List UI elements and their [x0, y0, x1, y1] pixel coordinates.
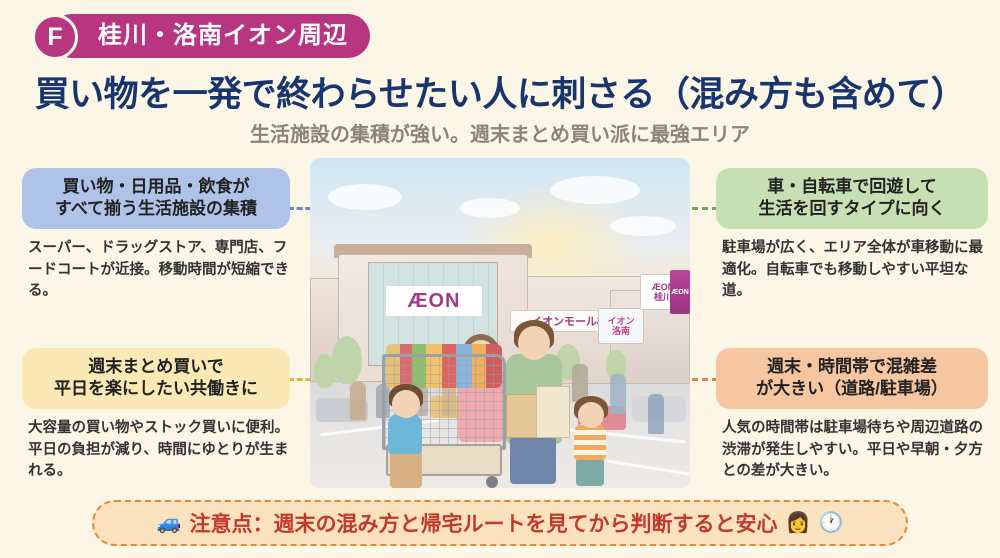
callout-chip-line2: が大きい（道路/駐車場） [730, 378, 974, 400]
background-shopper [610, 374, 626, 414]
callout-shopping-density-body: スーパー、ドラッグストア、専門店、フードコートが近接。移動時間が短縮できる。 [22, 238, 290, 303]
callout-congestion-variance-chip: 週末・時間帯で混雑差 が大きい（道路/駐車場） [716, 348, 988, 409]
background-shopper [648, 394, 664, 434]
aeon-rakunan-sign: イオン 洛南 [598, 308, 644, 344]
callout-chip-line1: 車・自転車で回遊して [730, 176, 974, 198]
callout-chip-line1: 買い物・日用品・飲食が [36, 176, 276, 198]
aeon-rakunan-sign-line2: 洛南 [612, 326, 630, 336]
traffic-jam-icon: 🚙 [157, 513, 182, 533]
shopping-bag-icon [506, 394, 540, 438]
area-badge-label: 桂川・洛南イオン周辺 [98, 14, 348, 58]
callout-chip-line2: 生活を回すタイプに向く [730, 198, 974, 220]
callout-weekend-bulk-buying-body: 大容量の買い物やストック買いに便利。平日の負担が減り、時間にゆとりが生まれる。 [22, 418, 290, 483]
aeon-mall-illustration: ÆON イオンモール桂川 イオン 洛南 ÆON 桂川 ÆON [310, 158, 690, 488]
callout-congestion-variance-body: 人気の時間帯は駐車場待ちや周辺道路の渋滞が発生しやすい。平日や早朝・夕方との差が… [716, 418, 988, 483]
header: 桂川・洛南イオン周辺 F 買い物を一発で終わらせたい人に刺さる（混み方も含めて）… [0, 0, 1000, 160]
callout-shopping-density: 買い物・日用品・飲食が すべて揃う生活施設の集積 スーパー、ドラッグストア、専門… [22, 168, 290, 303]
callout-chip-line2: 平日を楽にしたい共働きに [36, 378, 276, 400]
family-boy-legs [390, 450, 422, 488]
page-subtitle: 生活施設の集積が強い。週末まとめ買い派に最強エリア [0, 118, 1000, 147]
callout-chip-line1: 週末まとめ買いで [36, 356, 276, 378]
tree-icon [332, 336, 362, 384]
area-badge-letter-circle: F [32, 14, 78, 60]
page-title: 買い物を一発で終わらせたい人に刺さる（混み方も含めて） [0, 66, 1000, 117]
family-father-head [518, 326, 550, 360]
shopping-bag-icon [536, 386, 570, 438]
background-shopper [350, 382, 366, 420]
aeon-rakunan-sign-line1: イオン [607, 316, 634, 326]
tree-icon [314, 354, 336, 388]
callout-chip-line1: 週末・時間帯で混雑差 [730, 356, 974, 378]
cloud-icon [328, 184, 402, 210]
area-badge-pill: 桂川・洛南イオン周辺 [50, 14, 370, 58]
family-boy-head [392, 390, 420, 418]
family-girl-body [574, 424, 606, 460]
aeon-logo-sign: ÆON [386, 286, 482, 316]
cloud-icon [460, 198, 520, 218]
callout-chip-line2: すべて揃う生活施設の集積 [36, 198, 276, 220]
caution-banner: 🚙 注意点：週末の混み方と帰宅ルートを見てから判断すると安心 👩 🕐 [92, 500, 908, 546]
cloud-icon [550, 176, 640, 204]
family-girl-head [578, 402, 604, 428]
callout-car-bicycle: 車・自転車で回遊して 生活を回すタイプに向く 駐車場が広く、エリア全体が車移動に… [716, 168, 988, 303]
callout-weekend-bulk-buying-chip: 週末まとめ買いで 平日を楽にしたい共働きに [22, 348, 290, 409]
cloud-icon [610, 216, 676, 236]
person-icon: 👩 [786, 513, 811, 533]
clock-icon: 🕐 [818, 513, 843, 533]
cart-wheel [486, 476, 498, 488]
callout-weekend-bulk-buying: 週末まとめ買いで 平日を楽にしたい共働きに 大容量の買い物やストック買いに便利。… [22, 348, 290, 483]
callout-shopping-density-chip: 買い物・日用品・飲食が すべて揃う生活施設の集積 [22, 168, 290, 229]
callout-congestion-variance: 週末・時間帯で混雑差 が大きい（道路/駐車場） 人気の時間帯は駐車場待ちや周辺道… [716, 348, 988, 483]
family-girl-legs [576, 458, 604, 486]
family-boy-body [388, 414, 422, 454]
callout-car-bicycle-body: 駐車場が広く、エリア全体が車移動に最適化。自転車でも移動しやすい平坦な道。 [716, 238, 988, 303]
caution-banner-text: 注意点：週末の混み方と帰宅ルートを見てから判断すると安心 [190, 508, 778, 538]
callout-car-bicycle-chip: 車・自転車で回遊して 生活を回すタイプに向く [716, 168, 988, 229]
family-father-legs [510, 436, 556, 484]
aeon-katsura-tower-sign: ÆON [670, 270, 690, 314]
